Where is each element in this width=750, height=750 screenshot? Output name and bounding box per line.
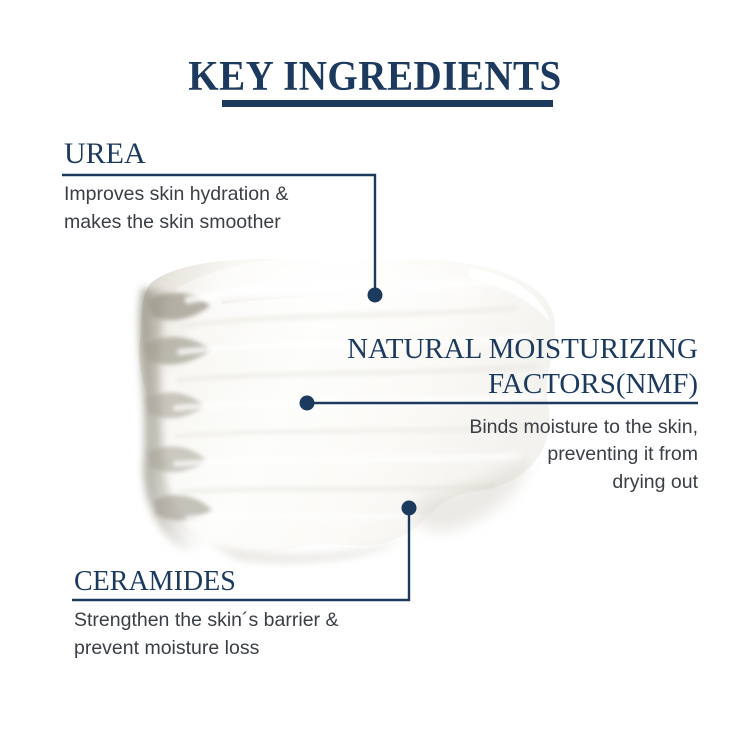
callout-nmf: NATURAL MOISTURIZING FACTORS(NMF) Binds … [338,332,698,497]
callout-ceramides-body-line: prevent moisture loss [74,635,412,663]
callout-nmf-body: Binds moisture to the skin, preventing i… [338,414,698,497]
callout-urea-body: Improves skin hydration & makes the skin… [62,181,382,236]
infographic-canvas: KEY INGREDIENTS [0,0,750,750]
callout-nmf-heading-line: FACTORS(NMF) [338,367,698,402]
page-title: KEY INGREDIENTS [26,56,724,98]
callout-urea-body-line: Improves skin hydration & [64,181,382,209]
callout-ceramides-body-line: Strengthen the skin´s barrier & [74,607,412,635]
callout-nmf-body-line: preventing it from [338,441,698,469]
callout-nmf-heading-line: NATURAL MOISTURIZING [338,332,698,367]
callout-ceramides-body: Strengthen the skin´s barrier & prevent … [72,607,412,662]
callout-ceramides: CERAMIDES Strengthen the skin´s barrier … [72,567,412,663]
callout-urea-body-line: makes the skin smoother [64,209,382,237]
callout-nmf-body-line: Binds moisture to the skin, [338,414,698,442]
callout-urea-heading: UREA [62,138,382,170]
callout-ceramides-heading: CERAMIDES [72,567,412,597]
title-underline-bar [222,100,553,107]
callout-nmf-heading: NATURAL MOISTURIZING FACTORS(NMF) [338,332,698,403]
callout-urea: UREA Improves skin hydration & makes the… [62,138,382,237]
callout-nmf-body-line: drying out [338,469,698,497]
